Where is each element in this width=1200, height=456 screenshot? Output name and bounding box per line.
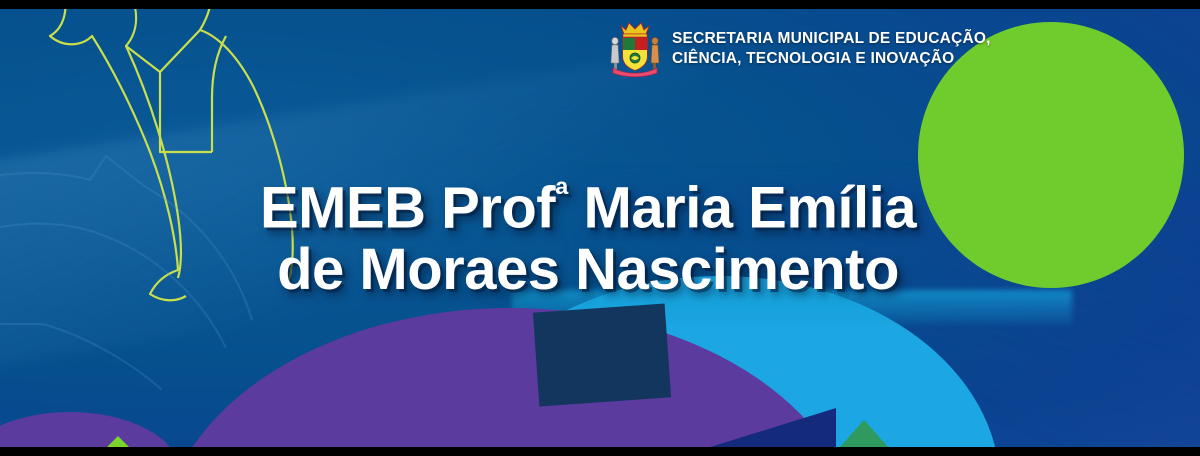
page-title-line1-suffix: Maria Emília xyxy=(568,175,916,240)
page-title-ordinal-indicator: ª xyxy=(555,174,568,215)
secretariat-name-line2: CIÊNCIA, TECNOLOGIA E INOVAÇÃO xyxy=(672,49,991,69)
page-title-line2: de Moraes Nascimento xyxy=(0,239,1176,300)
school-banner: SECRETARIA MUNICIPAL DE EDUCAÇÃO, CIÊNCI… xyxy=(0,0,1200,456)
secretariat-header: SECRETARIA MUNICIPAL DE EDUCAÇÃO, CIÊNCI… xyxy=(608,20,991,78)
green-triangle-right-shape xyxy=(832,420,896,448)
letterbox-bar-bottom xyxy=(0,447,1200,456)
letterbox-bar-top xyxy=(0,0,1200,9)
secretariat-name-line1: SECRETARIA MUNICIPAL DE EDUCAÇÃO, xyxy=(672,29,991,49)
banner-artwork: SECRETARIA MUNICIPAL DE EDUCAÇÃO, CIÊNCI… xyxy=(0,8,1200,448)
purple-edge-left-shape xyxy=(0,412,180,448)
coat-of-arms-icon xyxy=(608,20,662,78)
navy-square-shape xyxy=(533,304,671,407)
secretariat-name: SECRETARIA MUNICIPAL DE EDUCAÇÃO, CIÊNCI… xyxy=(672,29,991,70)
page-title-line1-prefix: EMEB Prof xyxy=(260,175,555,240)
page-title-line1: EMEB Profª Maria Emília xyxy=(0,176,1176,239)
page-title: EMEB Profª Maria Emília de Moraes Nascim… xyxy=(0,176,1200,300)
